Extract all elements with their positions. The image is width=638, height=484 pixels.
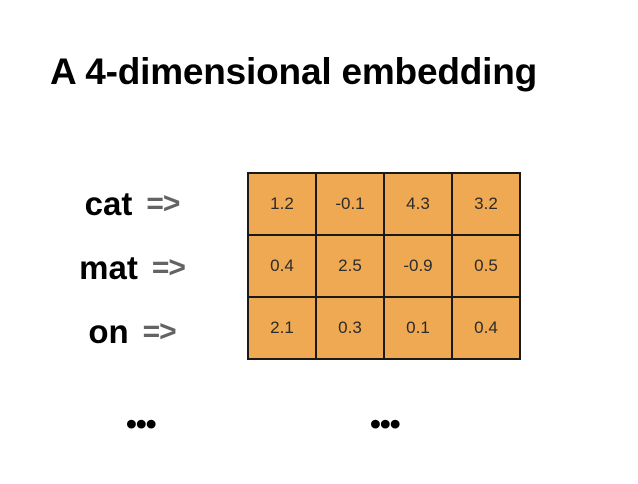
page-title: A 4-dimensional embedding — [50, 50, 602, 94]
embedding-cell: 0.1 — [384, 297, 452, 359]
token-row-on: on => — [34, 300, 230, 364]
ellipsis-vectors: ••• — [370, 414, 400, 434]
token-label-cat: cat — [85, 185, 133, 223]
maps-to-arrow-icon: => — [143, 313, 176, 351]
token-row-cat: cat => — [34, 172, 230, 236]
table-row: 1.2 -0.1 4.3 3.2 — [248, 173, 520, 235]
embedding-cell: 0.3 — [316, 297, 384, 359]
token-label-mat: mat — [79, 249, 138, 287]
token-label-column: cat => mat => on => — [34, 172, 230, 364]
embedding-cell: 3.2 — [452, 173, 520, 235]
embedding-cell: -0.9 — [384, 235, 452, 297]
embedding-cell: 2.1 — [248, 297, 316, 359]
embedding-cell: 0.5 — [452, 235, 520, 297]
maps-to-arrow-icon: => — [146, 185, 179, 223]
table-row: 0.4 2.5 -0.9 0.5 — [248, 235, 520, 297]
embedding-cell: 0.4 — [248, 235, 316, 297]
embedding-cell: 2.5 — [316, 235, 384, 297]
ellipsis-tokens: ••• — [126, 414, 156, 434]
embedding-matrix: 1.2 -0.1 4.3 3.2 0.4 2.5 -0.9 0.5 2.1 0.… — [247, 172, 521, 360]
token-label-on: on — [88, 313, 128, 351]
slide-canvas: A 4-dimensional embedding cat => mat => … — [0, 0, 638, 484]
embedding-cell: -0.1 — [316, 173, 384, 235]
table-row: 2.1 0.3 0.1 0.4 — [248, 297, 520, 359]
embedding-cell: 0.4 — [452, 297, 520, 359]
token-row-mat: mat => — [34, 236, 230, 300]
embedding-cell: 1.2 — [248, 173, 316, 235]
embedding-cell: 4.3 — [384, 173, 452, 235]
maps-to-arrow-icon: => — [152, 249, 185, 287]
